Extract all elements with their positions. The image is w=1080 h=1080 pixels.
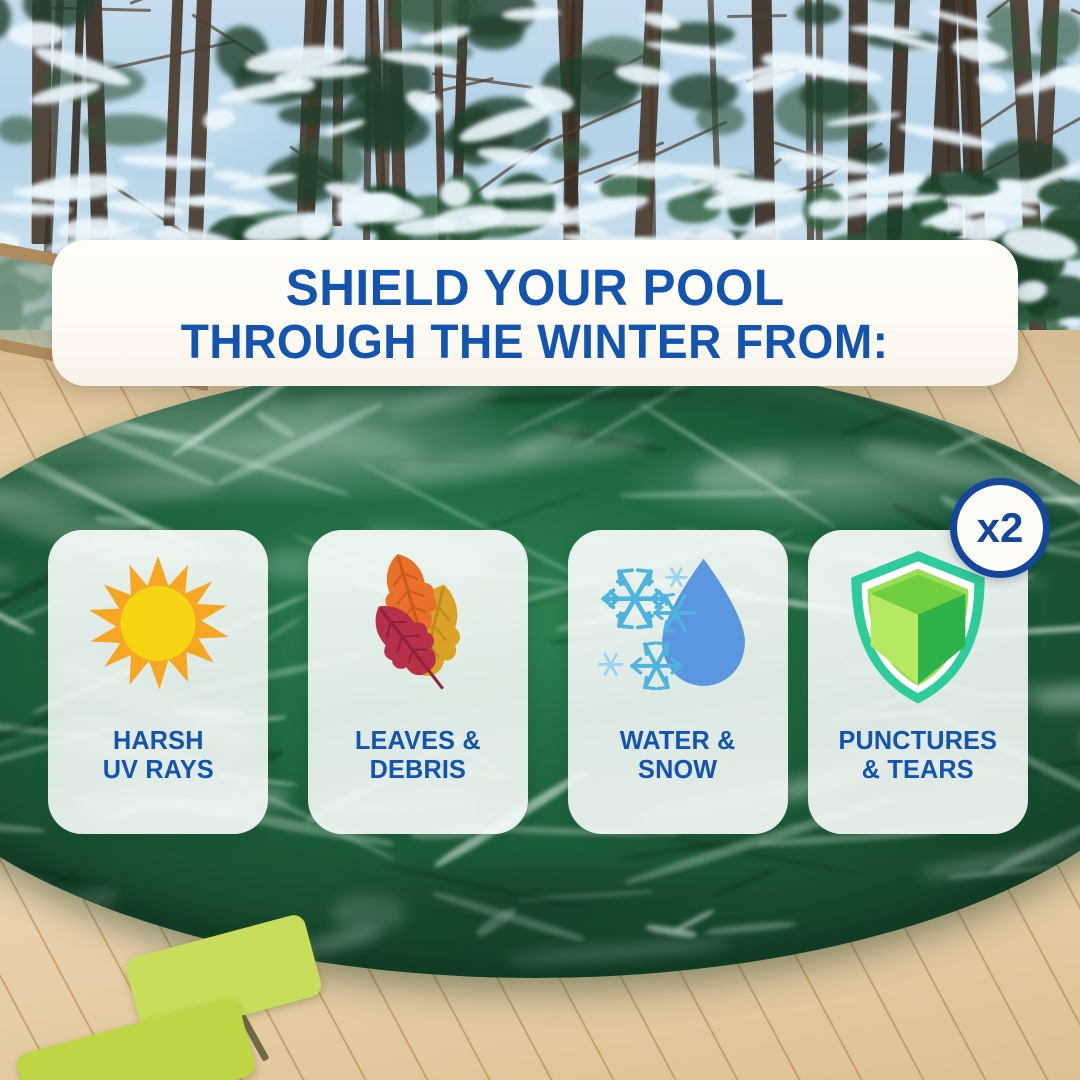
feature-card-label: WATER & SNOW bbox=[620, 726, 736, 784]
feature-card-leaves-debris[interactable]: LEAVES & DEBRIS bbox=[308, 530, 528, 834]
feature-card-label: PUNCTURES & TEARS bbox=[839, 726, 998, 784]
feature-card-label: LEAVES & DEBRIS bbox=[355, 726, 481, 784]
sun-icon bbox=[48, 530, 268, 726]
headline-line-1: SHIELD YOUR POOL bbox=[286, 262, 785, 313]
headline-line-2: THROUGH THE WINTER FROM: bbox=[181, 317, 889, 369]
feature-card-water-snow[interactable]: WATER & SNOW bbox=[568, 530, 788, 834]
promo-image: SHIELD YOUR POOL THROUGH THE WINTER FROM… bbox=[0, 0, 1080, 1080]
quantity-badge-label: x2 bbox=[977, 507, 1024, 549]
water-snow-icon bbox=[568, 530, 788, 726]
headline-banner: SHIELD YOUR POOL THROUGH THE WINTER FROM… bbox=[52, 240, 1018, 386]
quantity-badge: x2 bbox=[950, 478, 1050, 578]
feature-cards: HARSH UV RAYS bbox=[48, 530, 1048, 834]
feature-card-label: HARSH UV RAYS bbox=[102, 726, 213, 784]
feature-card-harsh-uv-rays[interactable]: HARSH UV RAYS bbox=[48, 530, 268, 834]
leaves-icon bbox=[308, 530, 528, 726]
